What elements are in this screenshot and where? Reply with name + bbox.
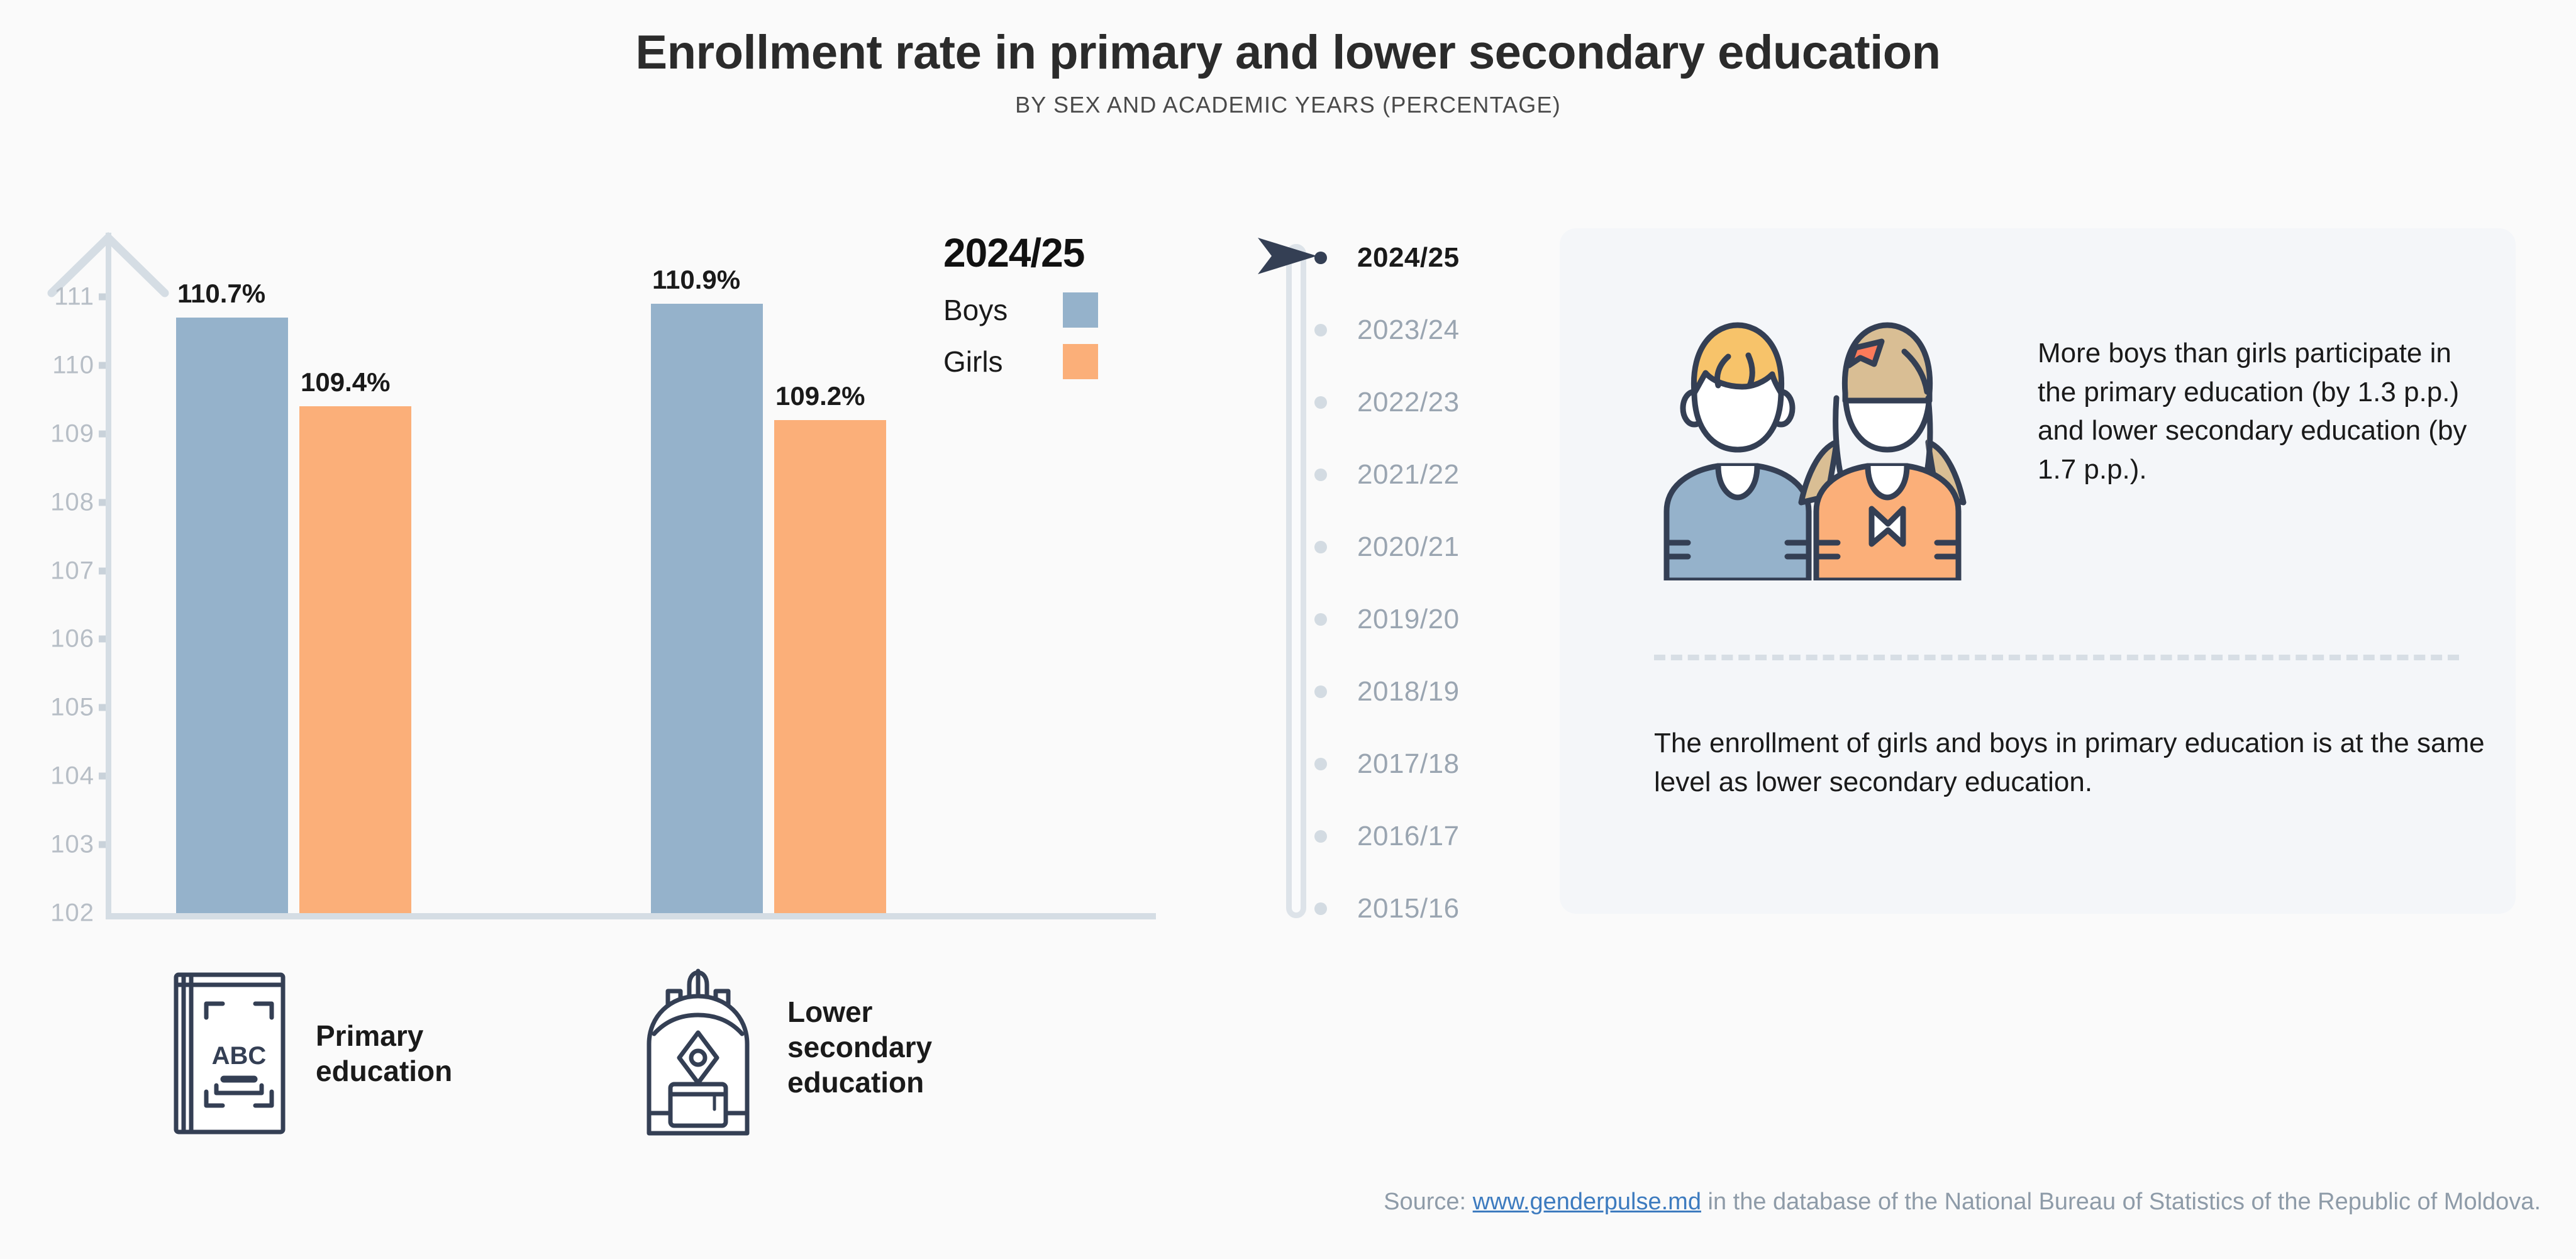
y-tick-label: 110 xyxy=(0,351,94,379)
year-option-dot xyxy=(1314,541,1327,553)
x-axis-line xyxy=(106,913,1156,919)
bar-boys-2[interactable] xyxy=(651,304,763,913)
legend-item-boys[interactable]: Boys xyxy=(943,292,1098,328)
y-tick-label: 102 xyxy=(0,899,94,928)
legend-item-label: Boys xyxy=(943,293,1063,327)
info-text-secondary: The enrollment of girls and boys in prim… xyxy=(1654,724,2490,801)
year-slider[interactable]: 2024/252023/242022/232021/222020/212019/… xyxy=(1270,233,1535,918)
info-panel: More boys than girls participate in the … xyxy=(1560,228,2516,914)
source-footer: Source: www.genderpulse.md in the databa… xyxy=(0,1189,2541,1216)
category-primary-label: Primary education xyxy=(316,1018,452,1089)
year-option-label: 2022/23 xyxy=(1357,387,1460,418)
y-tick-mark xyxy=(99,704,106,711)
category-secondary-label-line3: education xyxy=(787,1065,932,1100)
legend-selected-year: 2024/25 xyxy=(943,230,1098,276)
y-tick-mark xyxy=(99,430,106,437)
category-primary-label-line2: education xyxy=(316,1053,452,1089)
year-option-dot xyxy=(1314,252,1327,264)
year-option-label: 2024/25 xyxy=(1357,242,1460,274)
svg-text:ABC: ABC xyxy=(212,1042,267,1070)
y-tick-label: 109 xyxy=(0,419,94,448)
category-primary-education: ABC Primary education xyxy=(170,968,452,1138)
legend-item-swatch xyxy=(1063,344,1098,379)
boy-and-girl-illustration-icon xyxy=(1648,316,2006,580)
category-primary-label-line1: Primary xyxy=(316,1018,452,1053)
source-suffix: in the database of the National Bureau o… xyxy=(1701,1189,2541,1215)
year-option-dot xyxy=(1314,469,1327,481)
year-option-dot xyxy=(1314,324,1327,336)
year-option-label: 2016/17 xyxy=(1357,821,1460,852)
source-link[interactable]: www.genderpulse.md xyxy=(1473,1189,1701,1215)
year-option-2017-18[interactable]: 2017/18 xyxy=(1314,748,1460,780)
chart-legend: 2024/25 BoysGirls xyxy=(943,230,1098,379)
year-option-2021-22[interactable]: 2021/22 xyxy=(1314,459,1460,491)
year-option-label: 2020/21 xyxy=(1357,531,1460,563)
bar-boys-1[interactable] xyxy=(176,318,288,913)
year-option-dot xyxy=(1314,758,1327,770)
source-prefix: Source: xyxy=(1384,1189,1473,1215)
year-option-dot xyxy=(1314,830,1327,843)
y-tick-mark xyxy=(99,841,106,848)
y-tick-label: 104 xyxy=(0,762,94,790)
bar-value-label: 109.2% xyxy=(775,381,865,411)
year-option-2016-17[interactable]: 2016/17 xyxy=(1314,821,1460,852)
y-tick-mark xyxy=(99,773,106,780)
legend-item-swatch xyxy=(1063,292,1098,328)
info-text-primary: More boys than girls participate in the … xyxy=(2038,334,2490,489)
year-option-dot xyxy=(1314,613,1327,626)
y-tick-label: 108 xyxy=(0,488,94,516)
year-option-label: 2021/22 xyxy=(1357,459,1460,491)
bar-girls-2[interactable] xyxy=(774,420,886,913)
bar-value-label: 109.4% xyxy=(301,367,390,397)
bar-value-label: 110.7% xyxy=(177,279,265,309)
bar-value-label: 110.9% xyxy=(652,265,740,295)
y-tick-mark xyxy=(99,499,106,506)
year-option-2023-24[interactable]: 2023/24 xyxy=(1314,314,1460,346)
page-title: Enrollment rate in primary and lower sec… xyxy=(0,28,2576,78)
category-secondary-label-line2: secondary xyxy=(787,1029,932,1065)
y-tick-mark xyxy=(99,362,106,369)
year-option-label: 2018/19 xyxy=(1357,676,1460,707)
y-tick-label: 111 xyxy=(0,283,94,311)
category-secondary-label: Lower secondary education xyxy=(787,994,932,1100)
y-tick-mark xyxy=(99,567,106,574)
year-option-dot xyxy=(1314,396,1327,409)
y-tick-label: 107 xyxy=(0,557,94,585)
year-option-label: 2017/18 xyxy=(1357,748,1460,780)
year-option-2015-16[interactable]: 2015/16 xyxy=(1314,893,1460,924)
header: Enrollment rate in primary and lower sec… xyxy=(0,0,2576,118)
year-option-label: 2019/20 xyxy=(1357,604,1460,635)
year-option-2019-20[interactable]: 2019/20 xyxy=(1314,604,1460,635)
book-abc-icon: ABC xyxy=(170,968,289,1138)
bar-girls-1[interactable] xyxy=(299,406,411,913)
page-subtitle: BY SEX AND ACADEMIC YEARS (PERCENTAGE) xyxy=(0,92,2576,118)
y-tick-mark xyxy=(99,294,106,301)
y-axis-line xyxy=(106,233,111,913)
y-tick-label: 103 xyxy=(0,831,94,859)
year-option-dot xyxy=(1314,685,1327,698)
year-option-label: 2023/24 xyxy=(1357,314,1460,346)
y-tick-mark xyxy=(99,636,106,643)
slider-track[interactable] xyxy=(1286,244,1306,918)
legend-items: BoysGirls xyxy=(943,292,1098,379)
info-divider xyxy=(1654,655,2459,660)
backpack-icon xyxy=(635,956,761,1138)
year-option-2018-19[interactable]: 2018/19 xyxy=(1314,676,1460,707)
year-option-label: 2015/16 xyxy=(1357,893,1460,924)
year-option-2024-25[interactable]: 2024/25 xyxy=(1314,242,1460,274)
legend-item-girls[interactable]: Girls xyxy=(943,344,1098,379)
legend-item-label: Girls xyxy=(943,345,1063,379)
category-lower-secondary-education: Lower secondary education xyxy=(635,956,932,1138)
category-secondary-label-line1: Lower xyxy=(787,994,932,1029)
year-option-2020-21[interactable]: 2020/21 xyxy=(1314,531,1460,563)
year-option-2022-23[interactable]: 2022/23 xyxy=(1314,387,1460,418)
year-option-dot xyxy=(1314,902,1327,915)
y-tick-label: 105 xyxy=(0,694,94,722)
y-tick-label: 106 xyxy=(0,625,94,653)
